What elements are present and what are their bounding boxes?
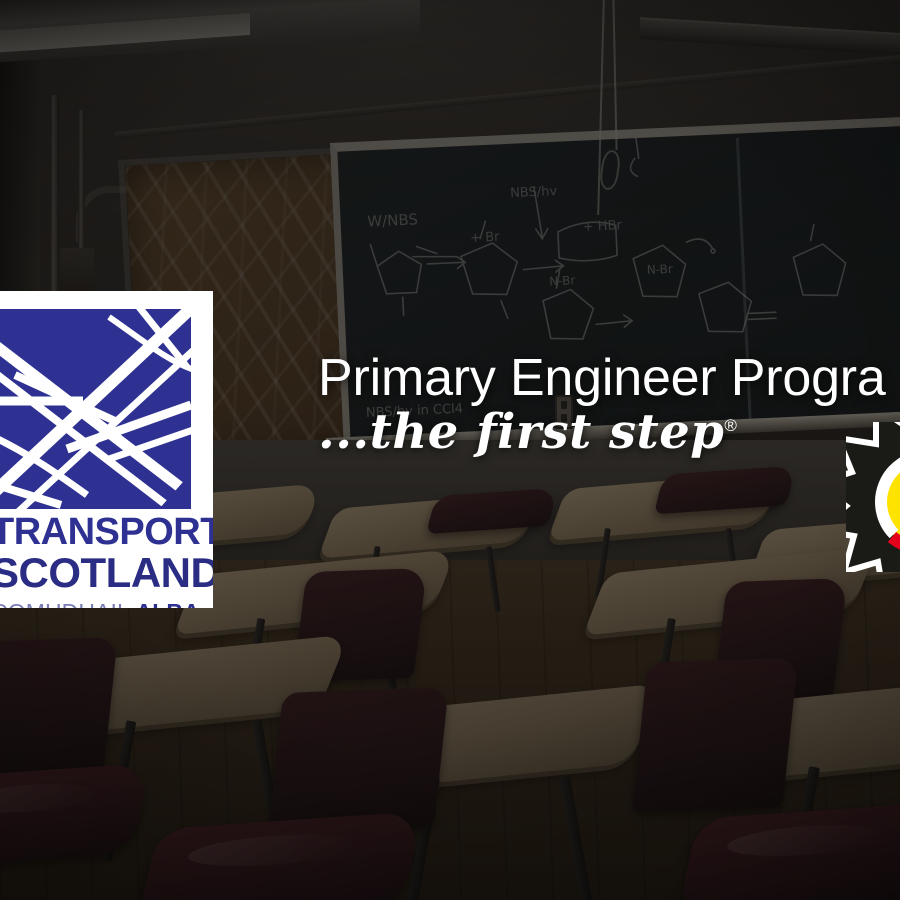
ts-line-scotland: SCOTLAND: [0, 552, 205, 594]
transport-scotland-wordmark: TRANSPORT SCOTLAND COMHDHAIL ALBA: [0, 513, 205, 608]
wall-junction-box: [60, 248, 94, 294]
transport-scotland-mark-icon: [0, 309, 191, 509]
transport-scotland-logo: TRANSPORT SCOTLAND COMHDHAIL ALBA: [0, 291, 213, 608]
chair-near-2-back: [268, 687, 448, 833]
page-title: Primary Engineer Progra: [318, 348, 886, 408]
ts-line-transport: TRANSPORT: [0, 513, 205, 551]
ts-gaelic-regular: COMHDHAIL: [0, 599, 136, 608]
ts-gaelic-bold: ALBA: [136, 599, 200, 608]
chair-near-3-back: [632, 657, 798, 812]
registered-trademark-icon: ®: [724, 416, 737, 435]
banner-image: W/NBS NBS/hv in CCl4 NBS/hv + Br + HBr N…: [0, 0, 900, 900]
tagline: ...the first step®: [318, 404, 737, 460]
ts-line-gaelic: COMHDHAIL ALBA: [0, 601, 205, 608]
primary-engineer-sun-logo: [846, 422, 900, 572]
chair-near-1-back: [0, 637, 118, 783]
tagline-text: ...the first step: [318, 404, 724, 460]
